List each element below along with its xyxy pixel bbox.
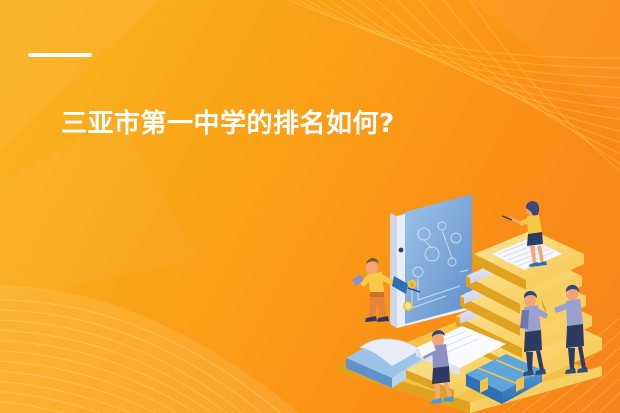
- coin-accent: [403, 301, 413, 311]
- title-divider-rule: [28, 53, 92, 57]
- page-title: 三亚市第一中学的排名如何?: [61, 108, 421, 142]
- isometric-education-illustration: ¥: [320, 188, 620, 413]
- tablet-device: [390, 194, 472, 328]
- svg-text:¥: ¥: [410, 282, 414, 289]
- banner-cover: 三亚市第一中学的排名如何?: [0, 0, 620, 413]
